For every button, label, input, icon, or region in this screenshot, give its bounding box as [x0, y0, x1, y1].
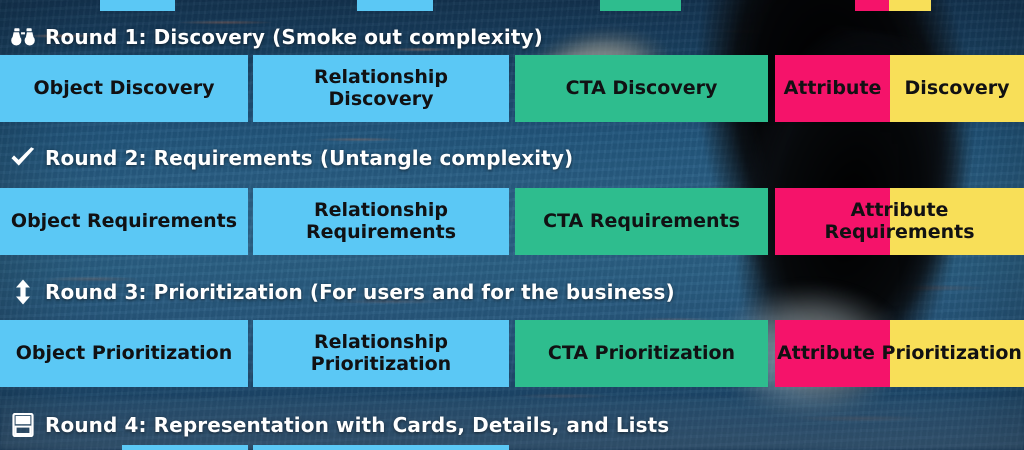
round-2-title: Round 2: Requirements (Untangle complexi… — [45, 146, 573, 170]
top-partial-cell-relationship — [357, 0, 433, 11]
cell-label-discovery: Discovery — [890, 55, 1024, 122]
round-3-title: Round 3: Prioritization (For users and f… — [45, 280, 675, 304]
cell-relationship-prioritization[interactable]: Relationship Prioritization — [253, 320, 509, 387]
cell-label: Attribute Requirements — [775, 188, 1024, 255]
round-1-header: Round 1: Discovery (Smoke out complexity… — [0, 20, 543, 54]
top-partial-cell-attribute-yellow — [889, 0, 931, 11]
cell-attribute-prioritization[interactable]: Attribute Prioritization — [775, 320, 1024, 387]
binoculars-icon — [10, 24, 36, 50]
cell-label: Object Discovery — [33, 78, 214, 99]
up-down-arrow-icon — [10, 279, 36, 305]
card-details-icon — [10, 412, 36, 438]
cell-cta-requirements[interactable]: CTA Requirements — [515, 188, 768, 255]
cell-label: Object Prioritization — [16, 343, 233, 364]
cell-object-discovery[interactable]: Object Discovery — [0, 55, 248, 122]
cell-relationship-requirements[interactable]: Relationship Requirements — [253, 188, 509, 255]
checkmark-icon — [10, 145, 36, 171]
round-4-title: Round 4: Representation with Cards, Deta… — [45, 413, 669, 437]
cell-label: CTA Discovery — [566, 78, 718, 99]
cell-label: Relationship Discovery — [259, 67, 503, 110]
cell-label: CTA Prioritization — [548, 343, 735, 364]
round-4-header: Round 4: Representation with Cards, Deta… — [0, 408, 669, 442]
top-partial-cell-attribute-pink — [855, 0, 889, 11]
cell-object-prioritization[interactable]: Object Prioritization — [0, 320, 248, 387]
cell-object-representation[interactable] — [122, 445, 248, 450]
top-partial-cell-cta — [600, 0, 681, 11]
round-3-header: Round 3: Prioritization (For users and f… — [0, 275, 675, 309]
round-1-title: Round 1: Discovery (Smoke out complexity… — [45, 25, 543, 49]
cell-cta-prioritization[interactable]: CTA Prioritization — [515, 320, 768, 387]
cell-relationship-discovery[interactable]: Relationship Discovery — [253, 55, 509, 122]
cell-object-requirements[interactable]: Object Requirements — [0, 188, 248, 255]
cell-label: CTA Requirements — [543, 211, 740, 232]
cell-label: Relationship Prioritization — [296, 332, 466, 375]
cell-label-attribute: Attribute — [775, 55, 890, 122]
cell-attribute-requirements[interactable]: Attribute Requirements — [775, 188, 1024, 255]
top-partial-cell-object — [100, 0, 175, 11]
cell-label: Relationship Requirements — [296, 200, 466, 243]
cell-attribute-discovery[interactable]: Attribute Discovery — [775, 55, 1024, 122]
cell-relationship-representation[interactable] — [253, 445, 509, 450]
cell-label: Attribute Prioritization — [775, 320, 1024, 387]
round-2-header: Round 2: Requirements (Untangle complexi… — [0, 141, 573, 175]
cell-cta-discovery[interactable]: CTA Discovery — [515, 55, 768, 122]
rounds-grid: Round 1: Discovery (Smoke out complexity… — [0, 0, 1024, 450]
cell-label: Object Requirements — [11, 211, 237, 232]
